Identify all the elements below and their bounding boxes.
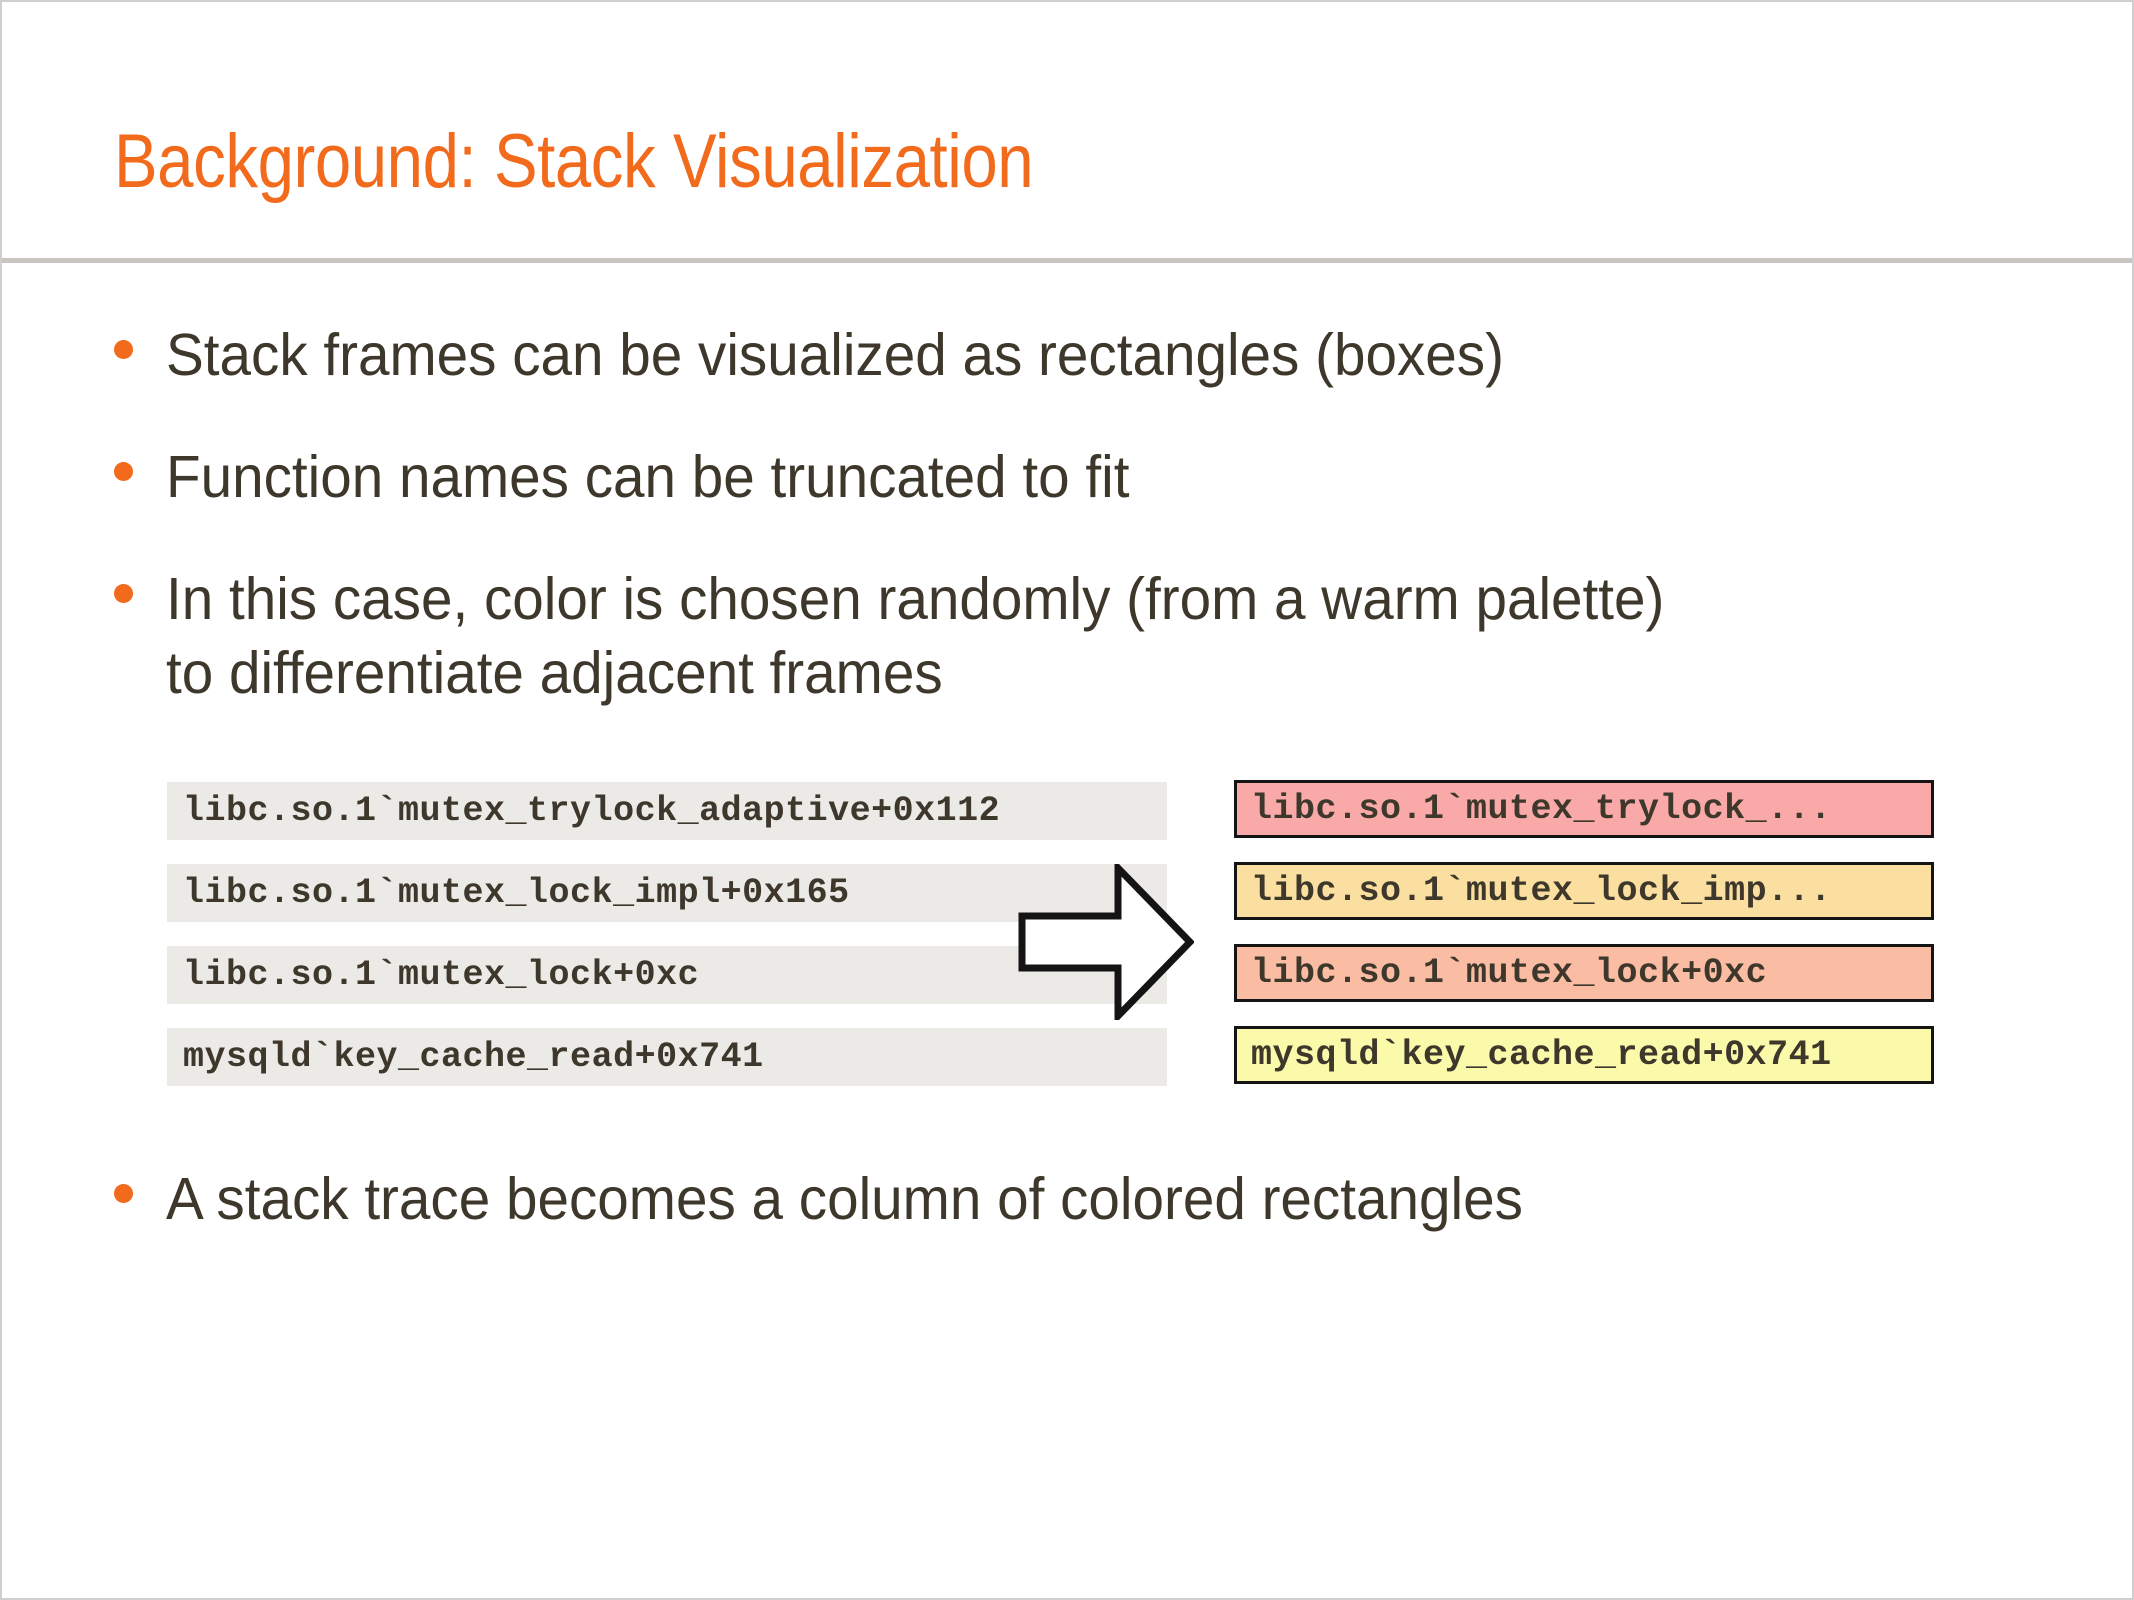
bullet-text-4: A stack trace becomes a column of colore… (166, 1162, 1523, 1236)
stack-frame-colored: libc.so.1`mutex_trylock_... (1234, 780, 1934, 838)
bullet-marker-icon (114, 1184, 133, 1203)
stack-frame-colored: libc.so.1`mutex_lock_imp... (1234, 862, 1934, 920)
slide: Background: Stack Visualization Stack fr… (0, 0, 2134, 1600)
stack-frame-colored: libc.so.1`mutex_lock+0xc (1234, 944, 1934, 1002)
bullet-item-3: In this case, color is chosen randomly (… (114, 562, 1727, 710)
bullet-item-4: A stack trace becomes a column of colore… (114, 1162, 1579, 1236)
page-title: Background: Stack Visualization (114, 124, 1033, 200)
stack-frame-plain: libc.so.1`mutex_lock+0xc (167, 946, 1167, 1004)
right-block-arrow-icon (1018, 864, 1194, 1020)
bullet-item-2: Function names can be truncated to fit (114, 440, 1170, 514)
colored-stack-frames: libc.so.1`mutex_trylock_... libc.so.1`mu… (1234, 780, 1934, 1108)
title-divider (2, 258, 2132, 263)
stack-frame-plain: libc.so.1`mutex_trylock_adaptive+0x112 (167, 782, 1167, 840)
plain-stack-frames: libc.so.1`mutex_trylock_adaptive+0x112 l… (167, 782, 1167, 1110)
stack-frame-colored: mysqld`key_cache_read+0x741 (1234, 1026, 1934, 1084)
bullet-text-3: In this case, color is chosen randomly (… (166, 562, 1664, 710)
bullet-text-1: Stack frames can be visualized as rectan… (166, 318, 1504, 392)
bullet-marker-icon (114, 340, 133, 359)
stack-frame-plain: libc.so.1`mutex_lock_impl+0x165 (167, 864, 1167, 922)
bullet-marker-icon (114, 462, 133, 481)
bullet-item-1: Stack frames can be visualized as rectan… (114, 318, 1560, 392)
bullet-marker-icon (114, 584, 133, 603)
bullet-text-2: Function names can be truncated to fit (166, 440, 1129, 514)
stack-visualization-diagram: libc.so.1`mutex_trylock_adaptive+0x112 l… (2, 2, 2134, 1600)
stack-frame-plain: mysqld`key_cache_read+0x741 (167, 1028, 1167, 1086)
